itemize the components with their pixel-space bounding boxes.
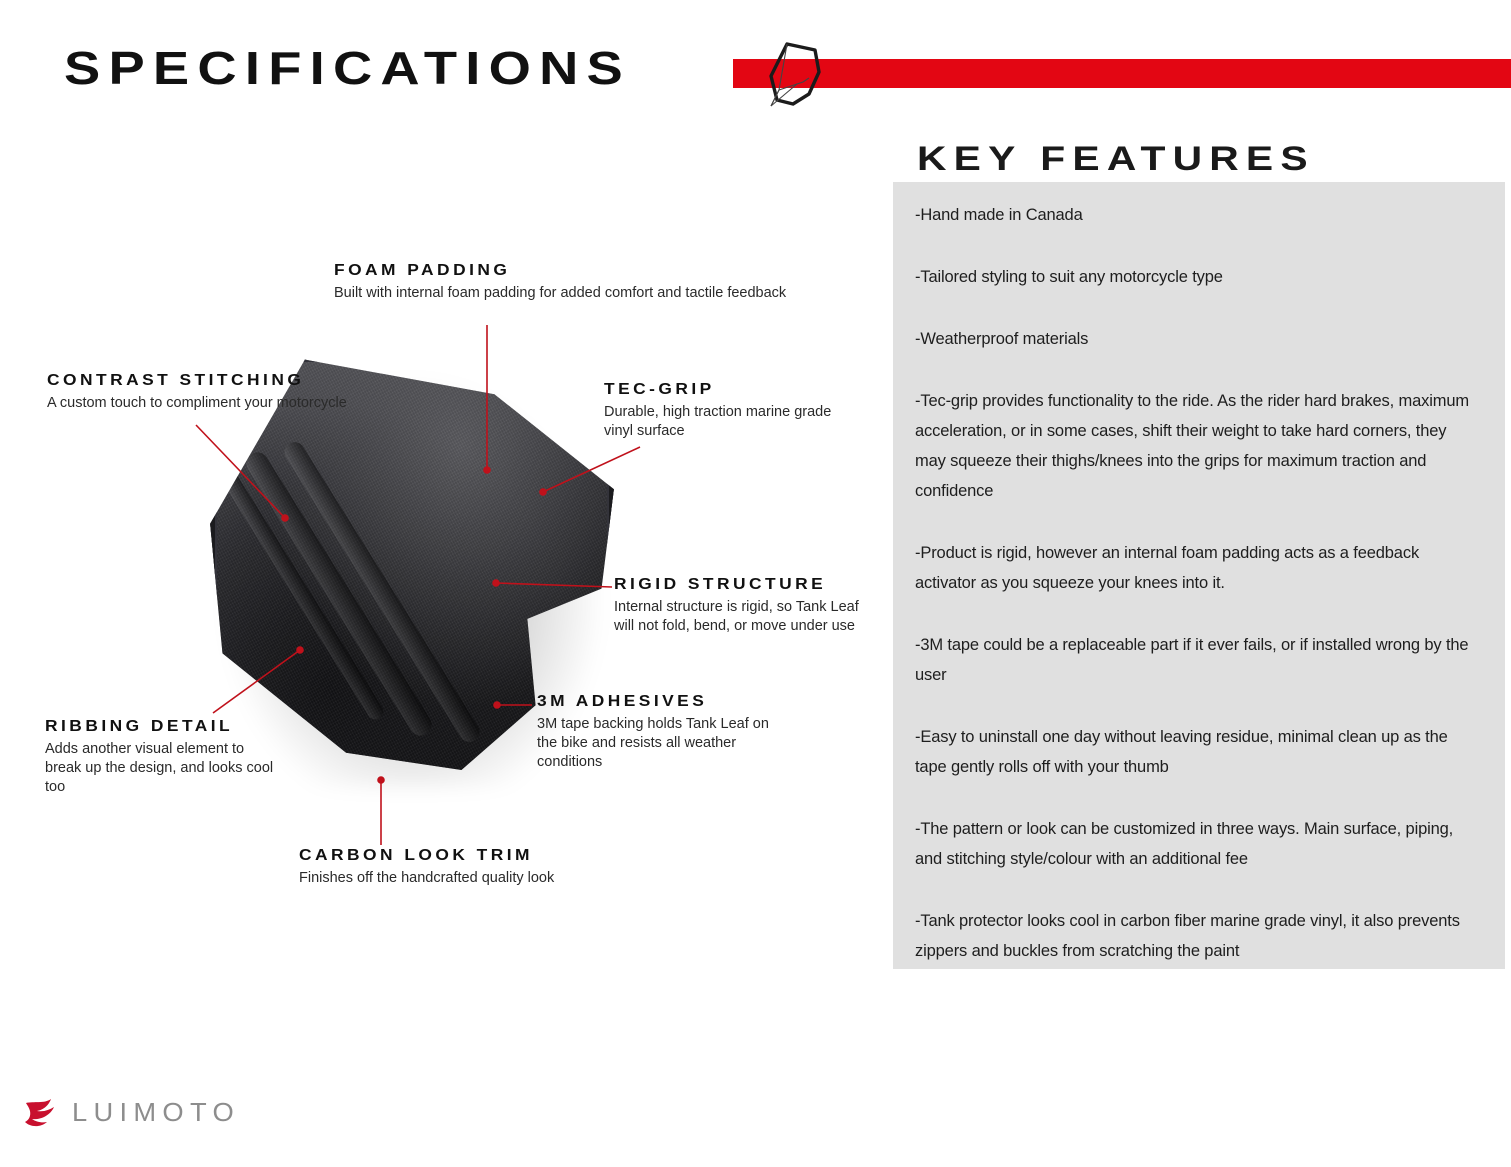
- callout-tec-grip: TEC-GRIP Durable, high traction marine g…: [604, 381, 864, 441]
- key-feature-item: -Weatherproof materials: [915, 324, 1469, 354]
- key-feature-item: -3M tape could be a replaceable part if …: [915, 630, 1469, 690]
- key-feature-item: -Tec-grip provides functionality to the …: [915, 386, 1469, 506]
- callout-body: Adds another visual element to break up …: [45, 740, 275, 797]
- callout-body: Durable, high traction marine grade viny…: [604, 403, 864, 441]
- key-feature-item: -Tank protector looks cool in carbon fib…: [915, 906, 1469, 966]
- key-feature-item: -The pattern or look can be customized i…: [915, 814, 1469, 874]
- callout-title: FOAM PADDING: [334, 262, 840, 280]
- callout-title: RIGID STRUCTURE: [614, 576, 907, 594]
- callout-title: TEC-GRIP: [604, 381, 895, 399]
- callout-title: 3M ADHESIVES: [537, 693, 817, 711]
- key-features-heading: KEY FEATURES: [917, 140, 1315, 179]
- luimoto-bird-icon: [24, 1098, 58, 1128]
- callout-carbon-look-trim: CARBON LOOK TRIM Finishes off the handcr…: [299, 847, 554, 888]
- callout-3m-adhesives: 3M ADHESIVES 3M tape backing holds Tank …: [537, 693, 787, 772]
- callout-ribbing-detail: RIBBING DETAIL Adds another visual eleme…: [45, 718, 275, 797]
- callout-body: Finishes off the handcrafted quality loo…: [299, 869, 554, 888]
- key-features-panel: -Hand made in Canada -Tailored styling t…: [893, 182, 1505, 969]
- callout-rigid-structure: RIGID STRUCTURE Internal structure is ri…: [614, 576, 876, 636]
- page-title: SPECIFICATIONS: [64, 41, 631, 95]
- callout-body: 3M tape backing holds Tank Leaf on the b…: [537, 715, 787, 772]
- callout-body: Built with internal foam padding for add…: [334, 284, 786, 303]
- key-feature-item: -Easy to uninstall one day without leavi…: [915, 722, 1469, 782]
- callout-title: RIBBING DETAIL: [45, 718, 303, 736]
- key-feature-item: -Product is rigid, however an internal f…: [915, 538, 1469, 598]
- brand-wordmark: LUIMOTO: [72, 1097, 240, 1128]
- callout-foam-padding: FOAM PADDING Built with internal foam pa…: [334, 262, 786, 303]
- specifications-page: SPECIFICATIONS KEY FEATURES -Hand made i…: [0, 0, 1511, 1167]
- brand-logo: LUIMOTO: [24, 1097, 232, 1128]
- key-feature-item: -Tailored styling to suit any motorcycle…: [915, 262, 1469, 292]
- callout-contrast-stitching: CONTRAST STITCHING A custom touch to com…: [47, 372, 347, 413]
- callout-title: CARBON LOOK TRIM: [299, 847, 585, 865]
- callout-title: CONTRAST STITCHING: [47, 372, 383, 390]
- callout-body: Internal structure is rigid, so Tank Lea…: [614, 598, 876, 636]
- key-feature-item: -Hand made in Canada: [915, 200, 1469, 230]
- header-accent-bar: [733, 59, 1511, 88]
- leaf-outline-icon: [757, 38, 837, 110]
- callout-body: A custom touch to compliment your motorc…: [47, 394, 347, 413]
